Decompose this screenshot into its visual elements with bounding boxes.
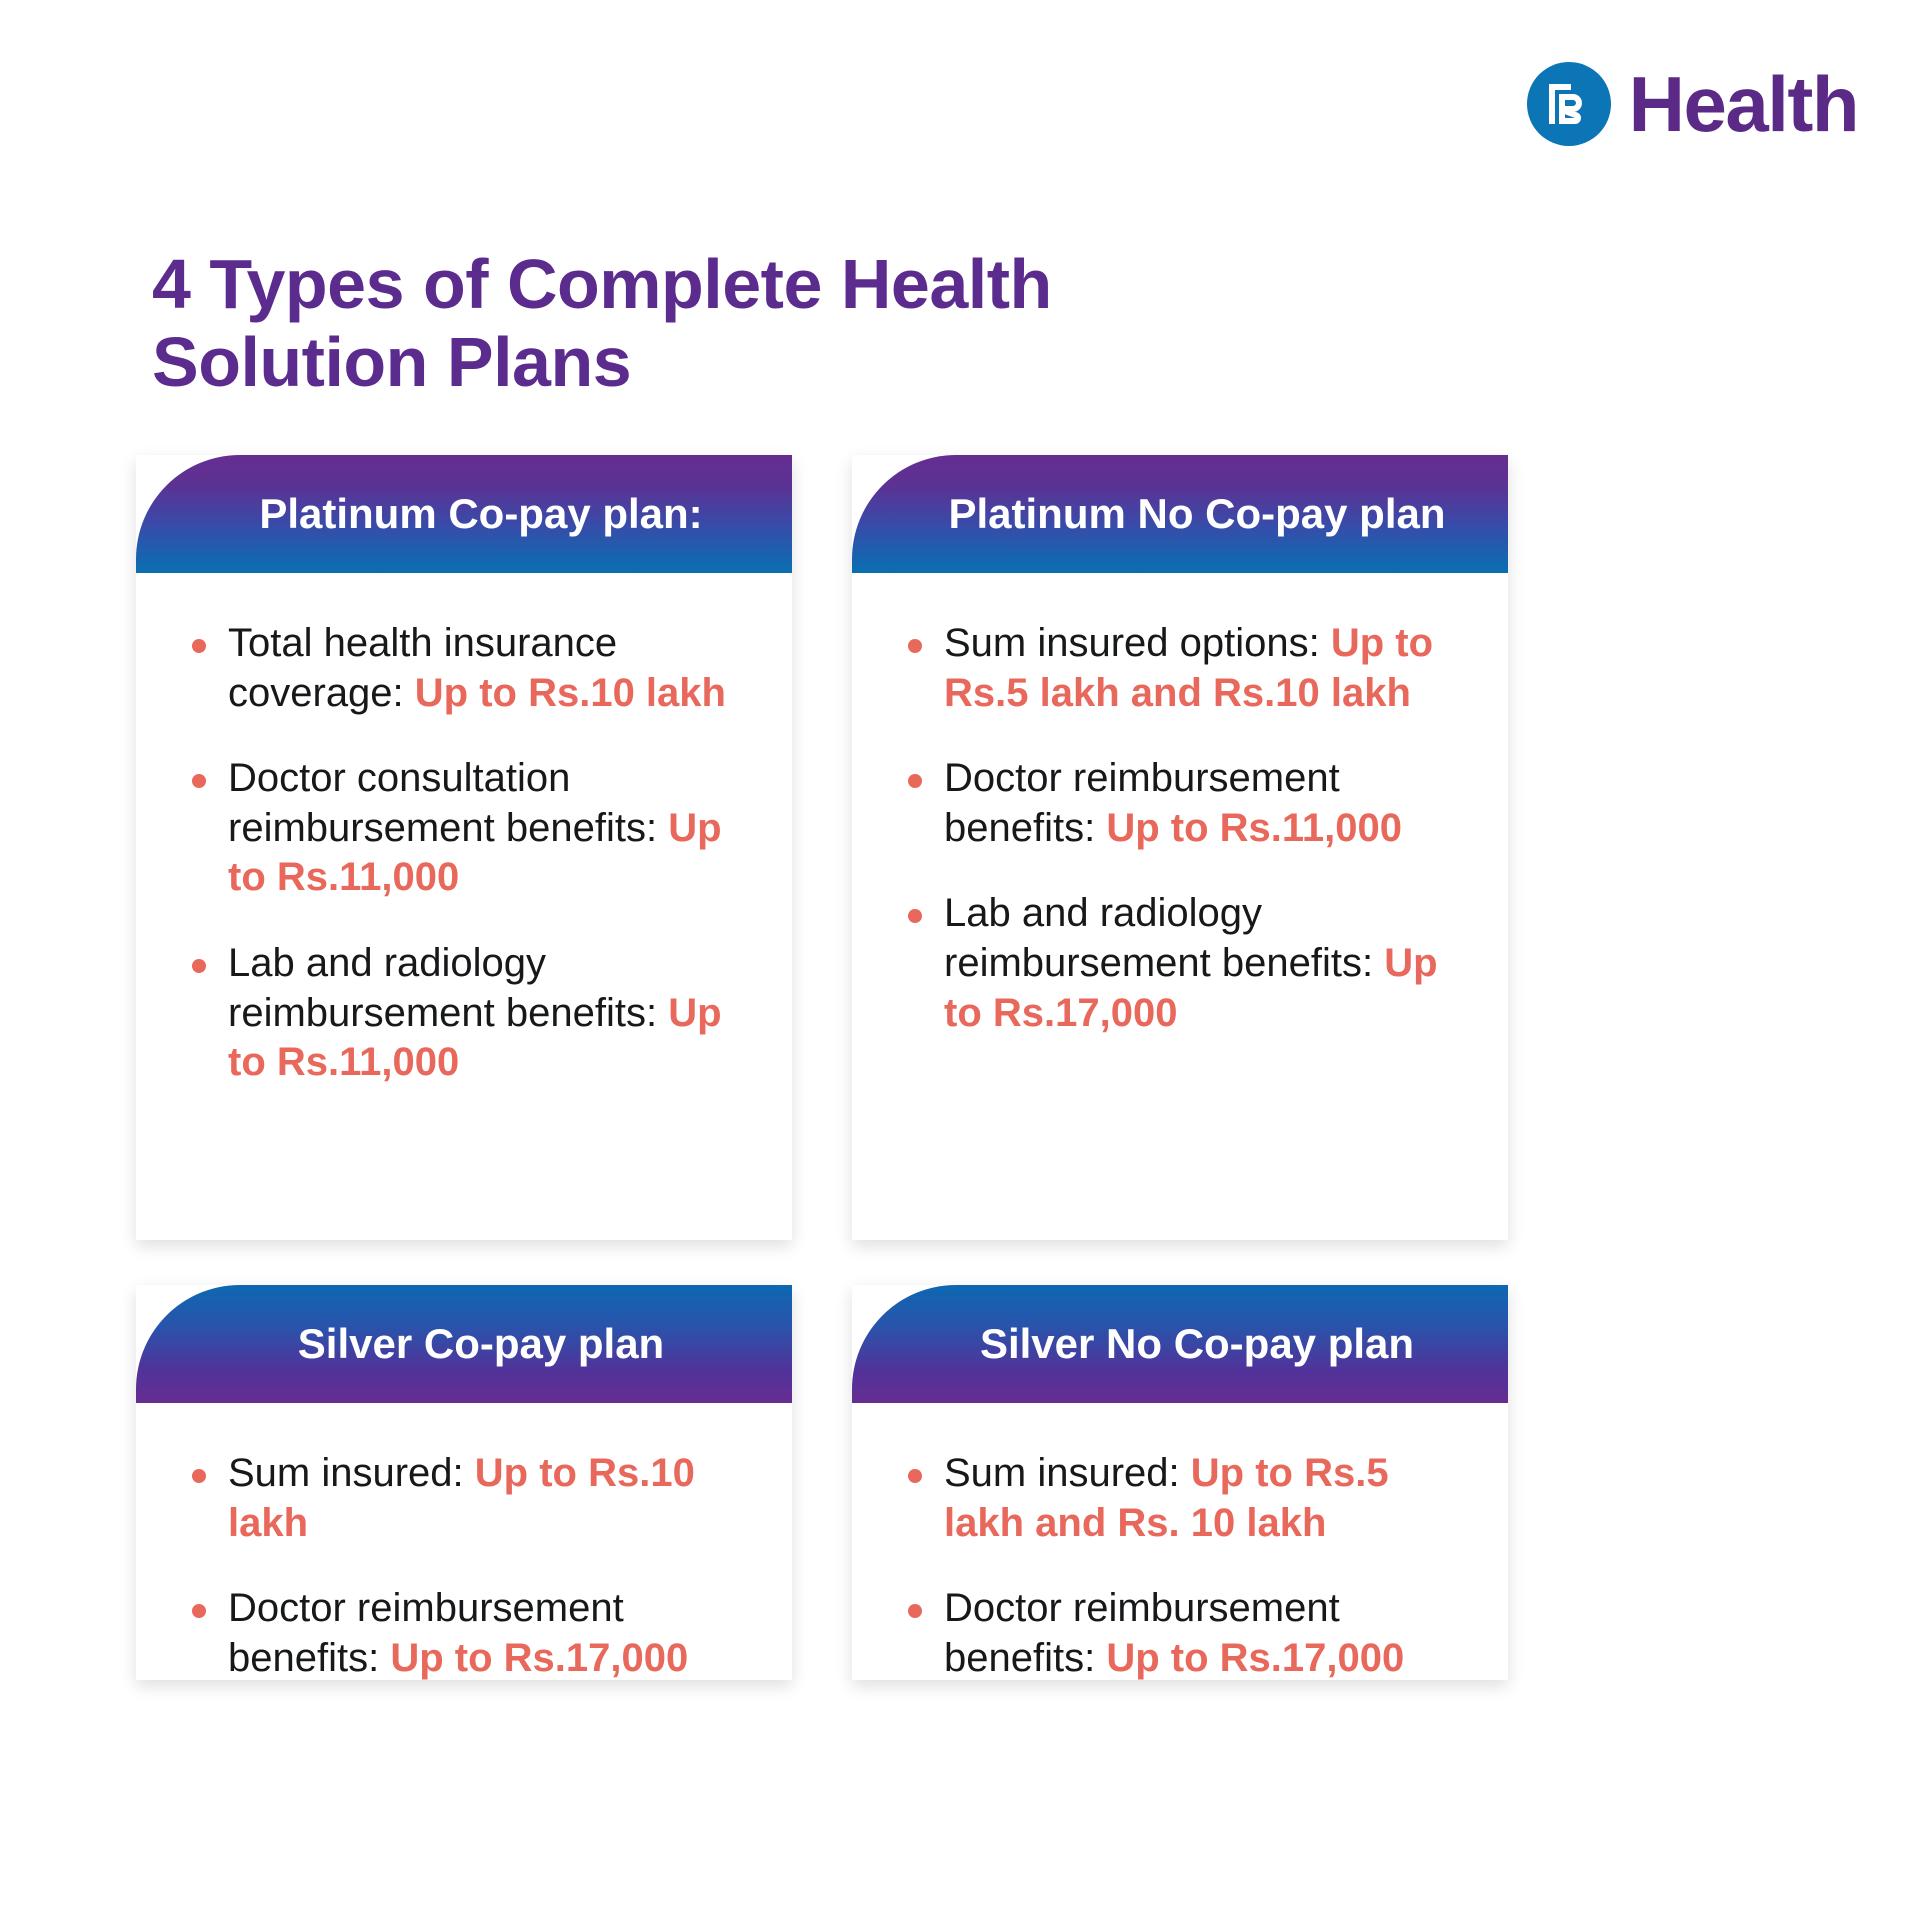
plan-card-title: Platinum No Co-pay plan [948,490,1445,538]
benefit-label: Doctor consultation reimbursement benefi… [228,756,668,850]
list-item: Doctor reimbursement benefits: Up to Rs.… [886,1584,1474,1683]
plan-card-platinum-no-co-pay: Platinum No Co-pay plan Sum insured opti… [852,455,1508,1240]
bullet-dot-icon [908,774,922,788]
plan-card-title: Platinum Co-pay plan: [259,490,702,538]
list-item: Lab and radiology reimbursement benefits… [170,939,758,1088]
bajaj-b-logo-icon [1527,62,1611,146]
bullet-dot-icon [908,639,922,653]
bullet-dot-icon [908,909,922,923]
bullet-dot-icon [192,959,206,973]
plan-card-title: Silver No Co-pay plan [980,1320,1414,1368]
list-item: Lab and radiology reimbursement benefits… [886,889,1474,1038]
plan-card-title: Silver Co-pay plan [298,1320,664,1368]
plan-card-header: Silver Co-pay plan [136,1285,792,1403]
plan-card-body: Total health insurance coverage: Up to R… [136,573,792,1240]
benefit-value: Up to Rs.17,000 [1106,1636,1404,1680]
list-item: Doctor consultation reimbursement benefi… [170,754,758,903]
list-item: Doctor reimbursement benefits: Up to Rs.… [886,754,1474,853]
plan-card-body: Sum insured: Up to Rs.5 lakh and Rs. 10 … [852,1403,1508,1713]
bullet-dot-icon [192,1604,206,1618]
benefit-value: Up to Rs.10 lakh [415,671,726,715]
benefit-label: Lab and radiology reimbursement benefits… [228,941,668,1035]
list-item: Doctor reimbursement benefits: Up to Rs.… [170,1584,758,1683]
benefit-label: Lab and radiology reimbursement benefits… [944,891,1384,985]
plan-card-body: Sum insured: Up to Rs.10 lakh Doctor rei… [136,1403,792,1713]
benefit-label: Sum insured options: [944,621,1331,665]
bullet-dot-icon [192,1469,206,1483]
bullet-dot-icon [192,774,206,788]
plan-card-header: Platinum Co-pay plan: [136,455,792,573]
plan-card-silver-no-co-pay: Silver No Co-pay plan Sum insured: Up to… [852,1285,1508,1680]
plan-benefit-list: Sum insured options: Up to Rs.5 lakh and… [886,619,1474,1038]
plan-benefit-list: Total health insurance coverage: Up to R… [170,619,758,1088]
plan-card-header: Platinum No Co-pay plan [852,455,1508,573]
benefit-label: Sum insured: [944,1451,1191,1495]
brand-logo: Health [1527,62,1858,146]
list-item: Total health insurance coverage: Up to R… [170,619,758,718]
plan-benefit-list: Sum insured: Up to Rs.10 lakh Doctor rei… [170,1449,758,1683]
bullet-dot-icon [908,1604,922,1618]
list-item: Sum insured: Up to Rs.5 lakh and Rs. 10 … [886,1449,1474,1548]
plan-card-grid: Platinum Co-pay plan: Total health insur… [136,455,1508,1680]
plan-card-header: Silver No Co-pay plan [852,1285,1508,1403]
benefit-value: Up to Rs.17,000 [390,1636,688,1680]
bullet-dot-icon [908,1469,922,1483]
bullet-dot-icon [192,639,206,653]
page-title: 4 Types of Complete Health Solution Plan… [152,245,1252,402]
brand-wordmark: Health [1629,65,1858,143]
list-item: Sum insured: Up to Rs.10 lakh [170,1449,758,1548]
plan-benefit-list: Sum insured: Up to Rs.5 lakh and Rs. 10 … [886,1449,1474,1683]
list-item: Sum insured options: Up to Rs.5 lakh and… [886,619,1474,718]
plan-card-silver-co-pay: Silver Co-pay plan Sum insured: Up to Rs… [136,1285,792,1680]
benefit-label: Sum insured: [228,1451,475,1495]
benefit-value: Up to Rs.11,000 [1106,806,1402,850]
plan-card-body: Sum insured options: Up to Rs.5 lakh and… [852,573,1508,1240]
plan-card-platinum-co-pay: Platinum Co-pay plan: Total health insur… [136,455,792,1240]
